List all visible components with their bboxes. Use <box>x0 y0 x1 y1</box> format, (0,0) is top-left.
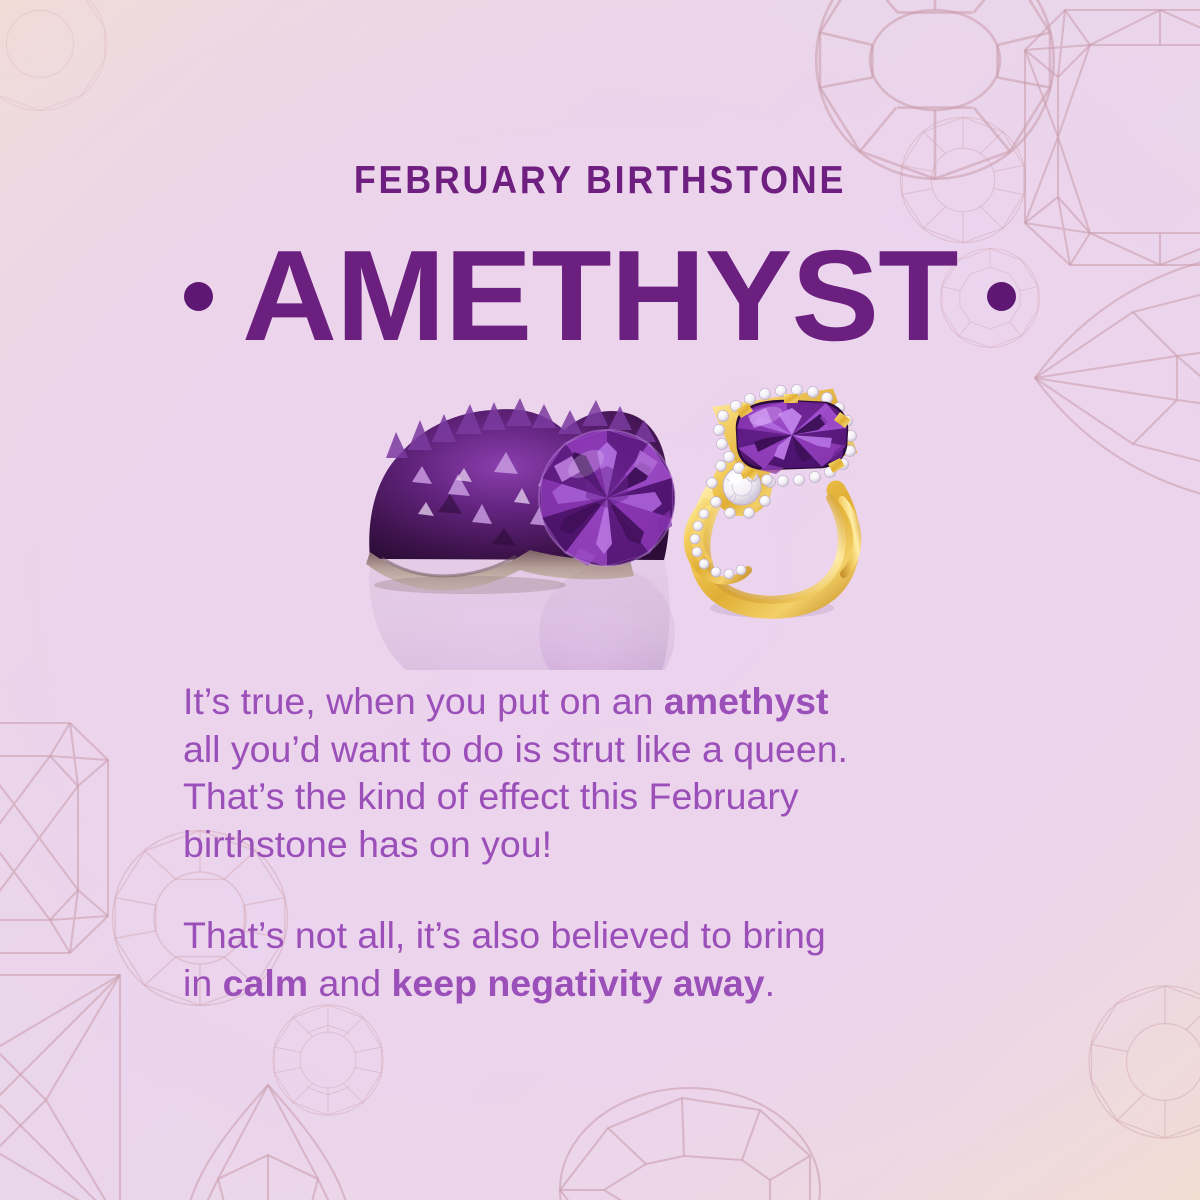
p2-line2-prefix: in <box>183 962 223 1004</box>
p2-line2-period: . <box>765 962 775 1004</box>
round-brilliant-gem-outline <box>816 0 1054 179</box>
p2-emphasis-calm: calm <box>223 962 308 1004</box>
amethyst-diamond-gold-ring <box>688 384 859 618</box>
paragraph-2: That’s not all, it’s also believed to br… <box>183 912 1063 1007</box>
p2-emphasis-keep-negativity-away: keep negativity away <box>392 962 765 1004</box>
round-brilliant-gem-outline <box>1089 986 1200 1138</box>
page-title: AMETHYST <box>242 232 958 361</box>
gemstone-showcase <box>0 380 1200 670</box>
p1-line2: all you’d want to do is strut like a que… <box>183 728 848 770</box>
paragraph-1: It’s true, when you put on an amethyst a… <box>183 678 1063 868</box>
emerald-cut-gem-outline <box>1025 10 1200 265</box>
bullet-dot-right-icon <box>987 282 1016 311</box>
p2-line1: That’s not all, it’s also believed to br… <box>183 914 826 956</box>
p1-line1-prefix: It’s true, when you put on an <box>183 680 664 722</box>
p2-line2-mid: and <box>308 962 391 1004</box>
eyebrow-label: FEBRUARY BIRTHSTONE <box>48 159 1152 203</box>
poster-canvas: FEBRUARY BIRTHSTONE AMETHYST <box>0 0 1200 1200</box>
p1-line3: That’s the kind of effect this February <box>183 775 799 817</box>
p1-emphasis-amethyst: amethyst <box>664 680 829 722</box>
emerald-cut-gem-outline <box>0 723 108 953</box>
p1-line4: birthstone has on you! <box>183 823 552 865</box>
round-brilliant-gem-outline <box>0 0 107 111</box>
title-row: AMETHYST <box>0 232 1200 361</box>
body-copy: It’s true, when you put on an amethyst a… <box>183 678 1063 1007</box>
pear-cut-gem-outline <box>182 1085 354 1200</box>
round-brilliant-gem-outline <box>273 1005 383 1115</box>
cushion-cut-gem-outline <box>0 975 120 1200</box>
oval-cut-gem-outline <box>560 1088 820 1200</box>
bullet-dot-left-icon <box>184 282 213 311</box>
